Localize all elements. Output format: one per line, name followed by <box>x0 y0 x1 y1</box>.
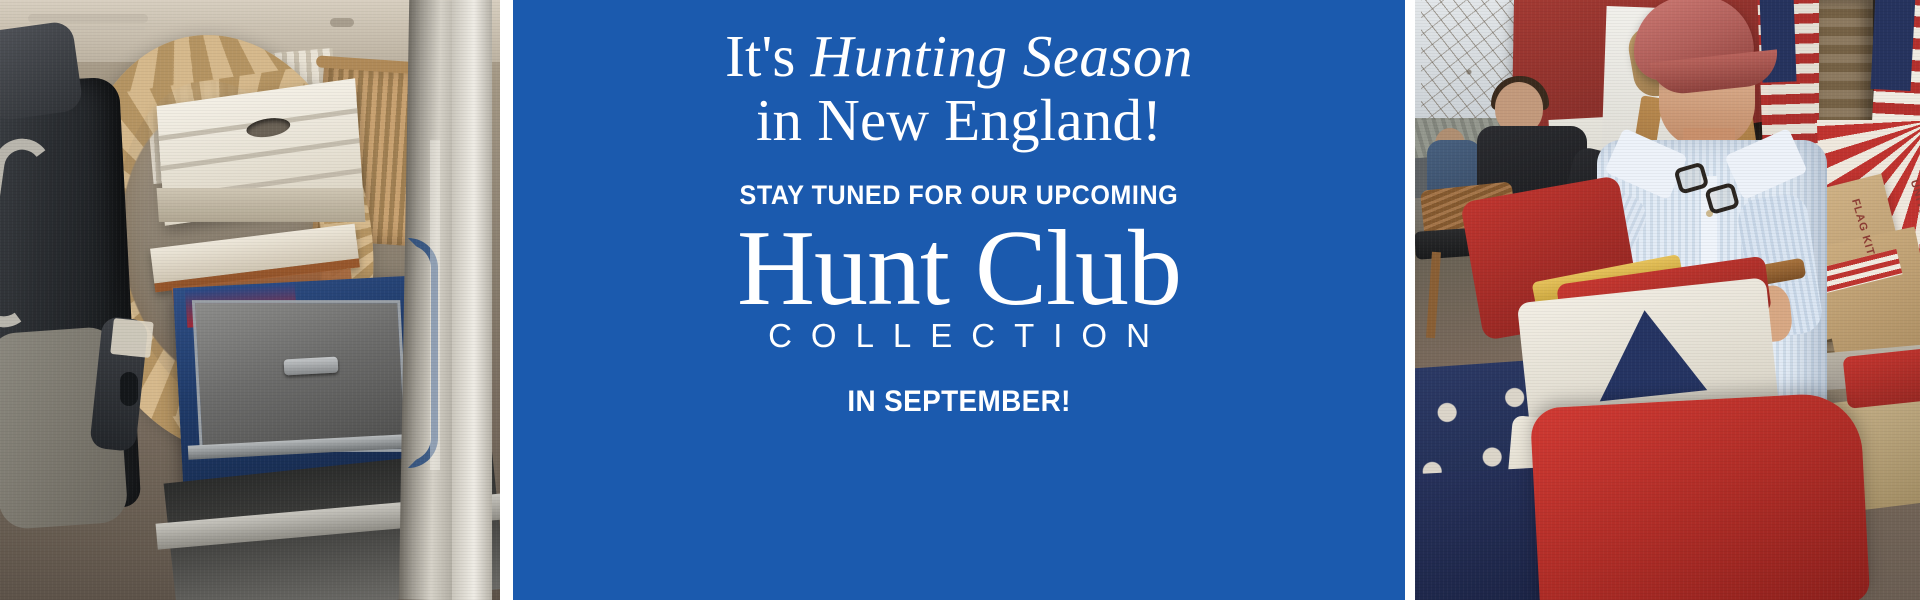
left-gutter <box>500 0 513 600</box>
flag-market-photo: FLAG KIT UNITED STATES FLA <box>1415 0 1920 600</box>
car-seat-release-button <box>120 372 138 406</box>
collection-label: COLLECTION <box>749 317 1169 355</box>
van-trunk-scene <box>0 0 500 600</box>
kicker-text: STAY TUNED FOR OUR UPCOMING <box>740 180 1179 211</box>
crate-handhole <box>246 116 291 140</box>
right-gutter <box>1405 0 1415 600</box>
door-highlight <box>430 140 440 470</box>
van-ceiling-ridge <box>28 14 148 23</box>
promo-banner: It's Hunting Season in New England! STAY… <box>0 0 1920 600</box>
promo-text-panel: It's Hunting Season in New England! STAY… <box>513 0 1405 600</box>
headline-line-2: in New England! <box>756 90 1162 150</box>
large-red-flag <box>1530 392 1871 600</box>
van-door-edge <box>452 0 492 600</box>
hunt-club-wordmark: Hunt Club <box>737 215 1181 323</box>
chair-leg <box>1426 252 1441 338</box>
headline-line-1: It's Hunting Season <box>725 26 1193 86</box>
blue-pennant <box>1591 305 1707 402</box>
trunk-drawer-face <box>192 300 408 452</box>
availability-text: IN SEPTEMBER! <box>847 385 1070 419</box>
antiques-in-van-photo <box>0 0 500 600</box>
headline-italic-text: Hunting Season <box>811 23 1193 89</box>
flag-market-scene: FLAG KIT UNITED STATES FLA <box>1415 0 1920 600</box>
folded-red-flag <box>1843 347 1920 409</box>
car-seat-warning-label <box>110 318 154 358</box>
trunk-handle <box>284 357 339 376</box>
car-seat-headrest <box>0 20 84 122</box>
van-ceiling-hook <box>330 18 354 27</box>
flag-canton <box>1871 0 1916 91</box>
headline-plain-text: It's <box>725 23 810 89</box>
crate-front-panel <box>157 188 366 222</box>
